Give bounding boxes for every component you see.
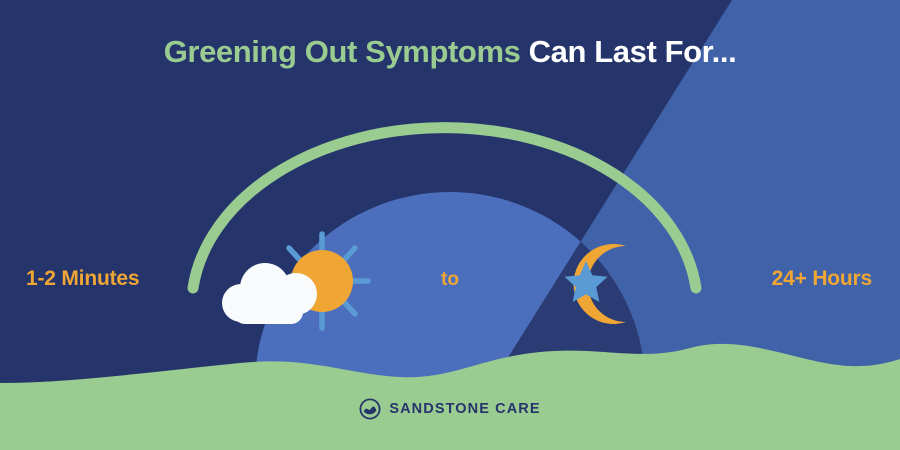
page-title: Greening Out Symptoms Can Last For... <box>0 34 900 70</box>
sandstone-circle-mark <box>359 398 381 420</box>
range-max-label: 24+ Hours <box>772 267 872 291</box>
page-title-plain: Can Last For... <box>520 34 736 69</box>
brand-logo-text: SANDSTONE CARE <box>389 401 540 417</box>
range-connector-label: to <box>0 269 900 291</box>
brand-logo: SANDSTONE CARE <box>0 398 900 420</box>
infographic-canvas: Greening Out Symptoms Can Last For... 1-… <box>0 0 900 450</box>
page-title-accent: Greening Out Symptoms <box>164 34 521 69</box>
